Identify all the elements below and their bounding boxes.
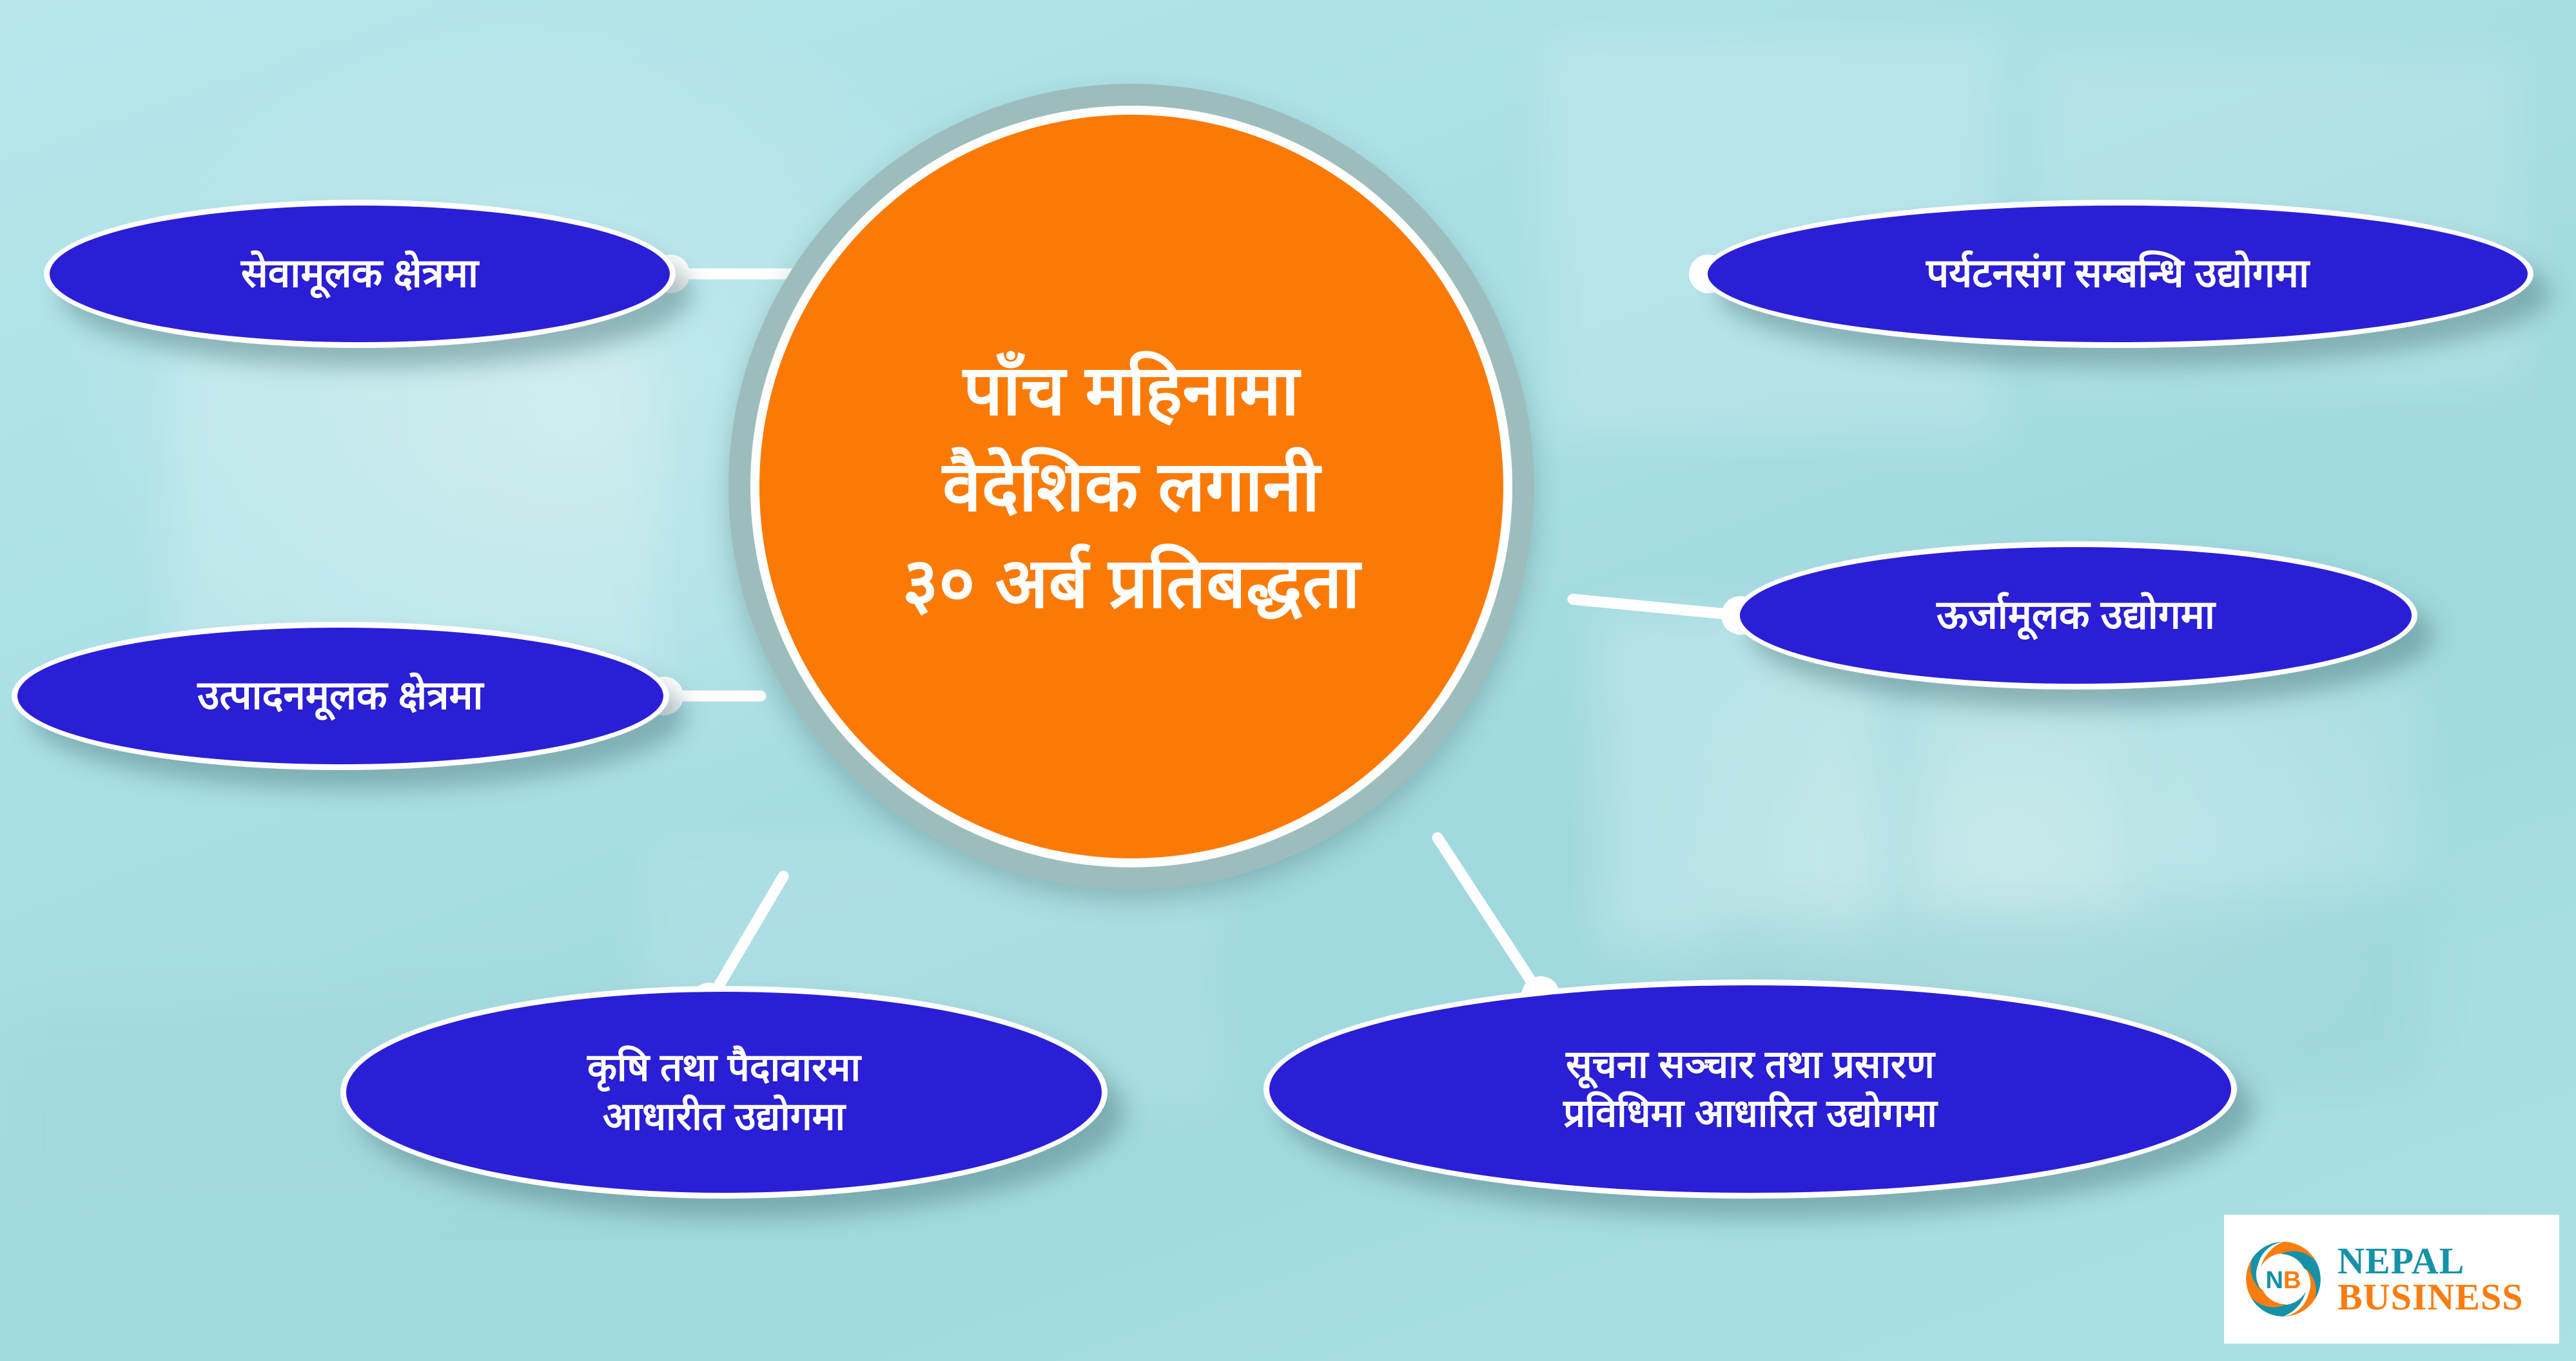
- node-production-label: उत्पादनमूलक क्षेत्रमा: [197, 671, 483, 721]
- hub-title-line-1: पाँच महिनामा: [963, 349, 1300, 431]
- svg-text:NB: NB: [2266, 1267, 2301, 1294]
- node-service-label: सेवामूलक क्षेत्रमा: [241, 249, 478, 299]
- node-ict-label-line-2: प्रविधिमा आधारित उद्योगमा: [1563, 1089, 1937, 1138]
- nepal-business-logo[interactable]: NB NEPAL BUSINESS: [2224, 1215, 2559, 1344]
- node-service[interactable]: सेवामूलक क्षेत्रमा: [44, 200, 676, 348]
- logo-wordmark: NEPAL BUSINESS: [2337, 1243, 2523, 1315]
- hub-title-line-2: वैदेशिक लगानी: [942, 445, 1320, 527]
- node-energy-label: ऊर्जामूलक उद्योगमा: [1937, 590, 2215, 641]
- central-hub[interactable]: पाँच महिनामा वैदेशिक लगानी ३० अर्ब प्रति…: [728, 84, 1534, 889]
- connector-energy: [1573, 599, 1741, 615]
- connector-agri: [709, 876, 783, 1002]
- node-agriculture[interactable]: कृषि तथा पैदावारमा आधारीत उद्योगमा: [340, 986, 1107, 1199]
- node-ict[interactable]: सूचना सञ्चार तथा प्रसारण प्रविधिमा आधारि…: [1264, 980, 2237, 1199]
- node-agriculture-label-line-2: आधारीत उद्योगमा: [603, 1092, 845, 1141]
- logo-text-business: BUSINESS: [2337, 1279, 2523, 1315]
- node-production[interactable]: उत्पादनमूलक क्षेत्रमा: [12, 622, 669, 770]
- node-agriculture-label-line-1: कृषि तथा पैदावारमा: [587, 1043, 861, 1092]
- hub-core: पाँच महिनामा वैदेशिक लगानी ३० अर्ब प्रति…: [759, 115, 1503, 858]
- node-ict-label-line-1: सूचना सञ्चार तथा प्रसारण: [1566, 1040, 1935, 1089]
- nb-aperture-icon: NB: [2241, 1237, 2326, 1322]
- hub-title-line-3: ३० अर्ब प्रतिबद्धता: [903, 542, 1361, 624]
- node-tourism[interactable]: पर्यटनसंग सम्बन्धि उद्योगमा: [1702, 200, 2533, 348]
- logo-text-nepal: NEPAL: [2337, 1243, 2523, 1279]
- node-tourism-label: पर्यटनसंग सम्बन्धि उद्योगमा: [1926, 249, 2309, 299]
- node-energy[interactable]: ऊर्जामूलक उद्योगमा: [1734, 541, 2417, 690]
